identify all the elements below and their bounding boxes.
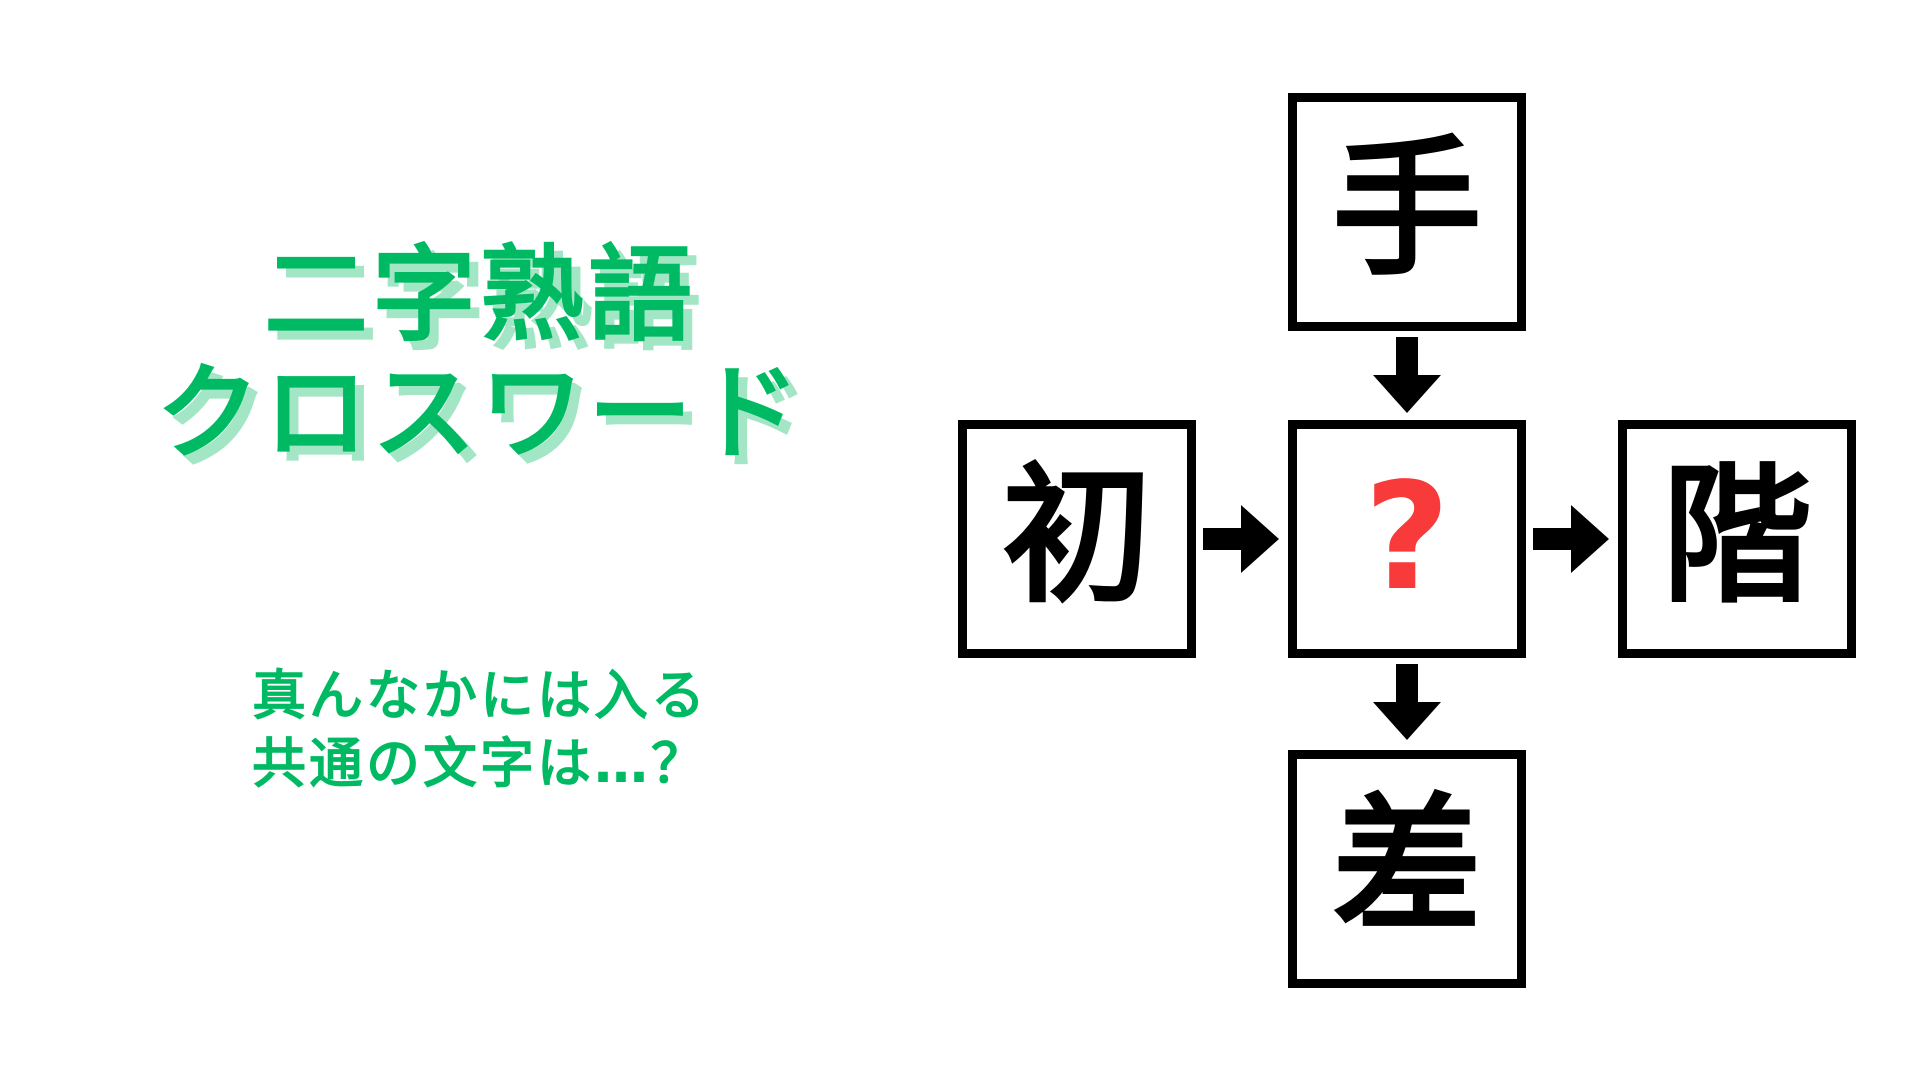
subtitle-line-1: 真んなかには入る <box>0 662 960 730</box>
arrow-right-icon <box>1203 505 1279 573</box>
crossword-diagram: 手 初 ? 階 差 <box>960 0 1920 1080</box>
puzzle-cell-top: 手 <box>1288 93 1526 331</box>
puzzle-cell-right: 階 <box>1618 420 1856 658</box>
puzzle-cell-left-label: 初 <box>1002 462 1152 612</box>
poster-canvas: 二字熟語 クロスワード 真んなかには入る 共通の文字は…？ 手 初 ? 階 差 <box>0 0 1920 1080</box>
headline-block: 二字熟語 クロスワード <box>0 236 960 472</box>
puzzle-cell-bottom-label: 差 <box>1332 792 1482 942</box>
arrow-down-icon <box>1373 337 1441 413</box>
arrow-right-icon <box>1533 505 1609 573</box>
puzzle-cell-center: ? <box>1288 420 1526 658</box>
puzzle-cell-top-label: 手 <box>1332 135 1482 285</box>
puzzle-cell-left: 初 <box>958 420 1196 658</box>
headline-line-1: 二字熟語 <box>0 236 960 354</box>
headline-line-2: クロスワード <box>0 354 960 472</box>
subtitle-line-2: 共通の文字は…？ <box>0 730 960 798</box>
puzzle-cell-center-label: ? <box>1364 463 1450 611</box>
puzzle-cell-bottom: 差 <box>1288 750 1526 988</box>
arrow-down-icon <box>1373 664 1441 740</box>
puzzle-cell-right-label: 階 <box>1662 462 1812 612</box>
subtitle-block: 真んなかには入る 共通の文字は…？ <box>0 662 960 798</box>
